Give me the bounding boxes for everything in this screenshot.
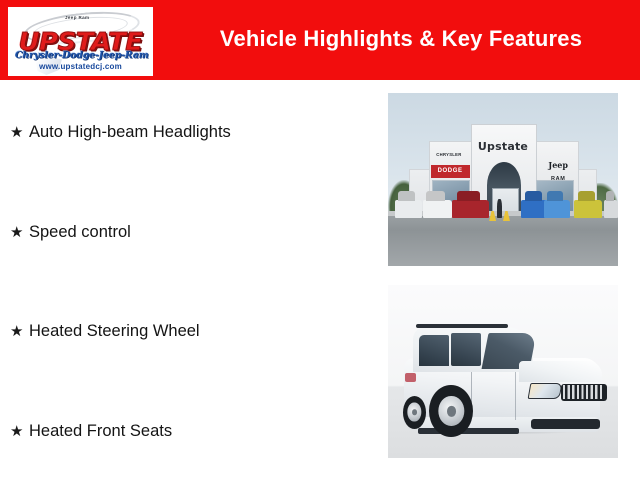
brand-sign-chrysler: CHRYSLER xyxy=(432,152,467,157)
vehicle-photo xyxy=(388,285,618,458)
logo-website-url: www.upstatedcj.com xyxy=(15,62,146,71)
feature-label: Heated Steering Wheel xyxy=(29,322,200,341)
vehicle-taillight xyxy=(405,373,415,382)
star-bullet-icon: ★ xyxy=(10,324,29,339)
parked-vehicle-silver xyxy=(604,200,618,217)
star-bullet-icon: ★ xyxy=(10,424,29,439)
vehicle-rocker-sill xyxy=(418,428,519,434)
building-sign-upstate: Upstate xyxy=(471,140,535,153)
brand-sign-jeep: Jeep xyxy=(540,160,577,170)
parked-vehicle-blue xyxy=(544,200,569,217)
dealership-logo[interactable]: Jeep Ram UPSTATE Chrysler-Dodge-Jeep-Ram… xyxy=(8,7,153,76)
vehicle-lower-air-intake xyxy=(531,419,600,429)
feature-label: Auto High-beam Headlights xyxy=(29,123,231,142)
logo-artwork: Jeep Ram UPSTATE Chrysler-Dodge-Jeep-Ram… xyxy=(8,7,153,76)
brand-sign-dodge: DODGE xyxy=(431,165,470,178)
list-item: ★ Heated Steering Wheel xyxy=(10,318,200,344)
feature-label: Heated Front Seats xyxy=(29,422,172,441)
vehicle-rear-wheel xyxy=(403,396,426,429)
dealership-photo: Upstate CHRYSLER DODGE Jeep RAM xyxy=(388,93,618,266)
page-header: Jeep Ram UPSTATE Chrysler-Dodge-Jeep-Ram… xyxy=(0,0,640,80)
parked-vehicle-yellow xyxy=(574,200,602,217)
vehicle-front-wheel xyxy=(429,385,473,437)
parked-vehicle-white xyxy=(423,200,453,217)
vehicle-rear-window xyxy=(419,335,449,366)
star-bullet-icon: ★ xyxy=(10,125,29,140)
vehicle-side-window xyxy=(451,333,481,366)
vehicle-door-seam xyxy=(515,372,516,420)
list-item: ★ Heated Front Seats xyxy=(10,418,172,444)
vehicle-rear-rim xyxy=(408,403,421,422)
logo-brands-line: Chrysler-Dodge-Jeep-Ram xyxy=(15,50,146,61)
feature-list: ★ Auto High-beam Headlights ★ Speed cont… xyxy=(0,80,388,480)
parked-vehicle-red xyxy=(452,200,489,217)
parked-vehicle-white xyxy=(395,200,423,217)
star-bullet-icon: ★ xyxy=(10,225,29,240)
list-item: ★ Speed control xyxy=(10,219,131,245)
parking-lot xyxy=(388,211,618,266)
logo-tagline-top: Jeep Ram xyxy=(65,15,89,20)
list-item: ★ Auto High-beam Headlights xyxy=(10,119,231,145)
vehicle-roof-rail xyxy=(416,324,508,328)
feature-label: Speed control xyxy=(29,223,131,242)
vehicle-hood xyxy=(519,361,602,382)
vehicle-front-rim xyxy=(439,396,464,426)
vehicle-grille-slats xyxy=(563,385,604,399)
person-figure xyxy=(497,199,502,218)
vehicle-headlight xyxy=(527,383,562,399)
page-title: Vehicle Highlights & Key Features xyxy=(186,26,616,52)
